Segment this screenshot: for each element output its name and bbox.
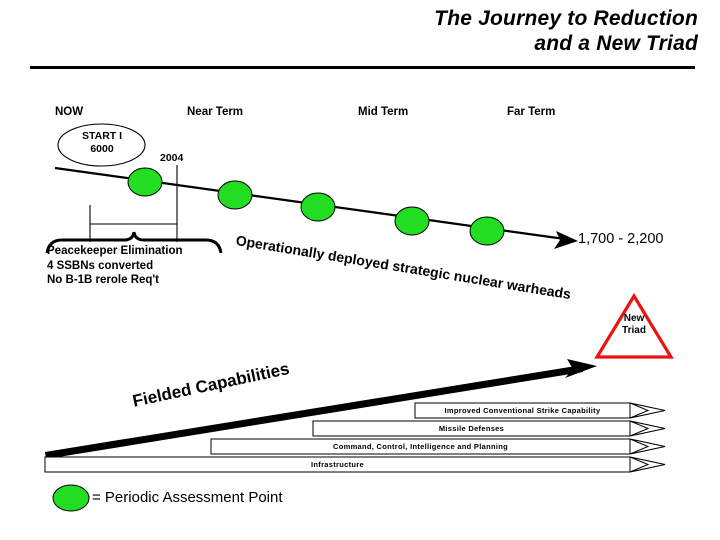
phase-label-near-term: Near Term [187,106,243,118]
legend-label: = Periodic Assessment Point [92,489,283,506]
peacekeeper-note-line-1: Peacekeeper Elimination [47,244,183,259]
warhead-end-value: 1,700 - 2,200 [578,231,663,247]
assessment-point-3[interactable] [301,193,335,221]
start-i-callout: START I 6000 [58,130,146,156]
page-title: The Journey to Reduction and a New Triad [178,6,698,56]
title-line-1: The Journey to Reduction [178,6,698,31]
capability-bar-3-arrowhead [630,439,665,454]
phase-label-mid-term: Mid Term [358,106,408,118]
peacekeeper-note-line-3: No B-1B rerole Req't [47,273,183,288]
assessment-point-4[interactable] [395,207,429,235]
peacekeeper-note-line-2: 4 SSBNs converted [47,259,183,274]
warhead-trend-line [55,168,572,240]
start-i-callout-line-1: START I [58,130,146,143]
new-triad-label-line-2: Triad [596,325,672,337]
title-divider [30,66,695,69]
phase-label-now: NOW [55,106,83,118]
capability-bar-3-label: Command, Control, Intelligence and Plann… [211,442,630,451]
slide-canvas: The Journey to Reduction and a New Triad… [0,0,720,540]
fielded-capabilities-label: Fielded Capabilities [131,359,291,412]
capability-bar-4-label: Infrastructure [45,460,630,469]
title-line-2: and a New Triad [178,31,698,56]
new-triad-label-line-1: New [596,313,672,325]
warhead-trend-arrowhead [554,231,578,249]
legend-assessment-point-icon [53,485,89,511]
new-triad-label: New Triad [596,313,672,337]
assessment-point-5[interactable] [470,217,504,245]
warhead-trend-label: Operationally deployed strategic nuclear… [235,232,572,302]
assessment-point-2[interactable] [218,181,252,209]
capability-bar-1-label: Improved Conventional Strike Capability [415,406,630,415]
phase-label-far-term: Far Term [507,106,555,118]
year-marker-2004: 2004 [160,152,183,164]
peacekeeper-note: Peacekeeper Elimination 4 SSBNs converte… [47,244,183,288]
capability-bar-4-arrowhead [630,457,665,472]
fielded-capabilities-arrowhead [565,359,597,378]
assessment-point-1[interactable] [128,168,162,196]
capability-bar-2-arrowhead [630,421,665,436]
capability-bar-1-arrowhead [630,403,665,418]
start-i-callout-line-2: 6000 [58,143,146,156]
capability-bar-2-label: Missile Defenses [313,424,630,433]
